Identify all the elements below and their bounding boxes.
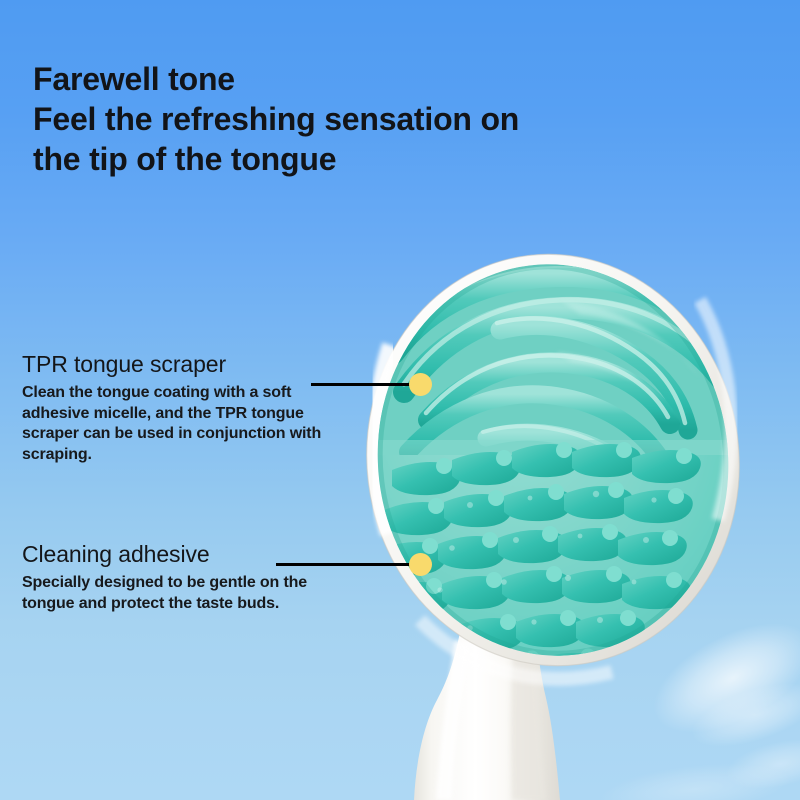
leader-dot-marker bbox=[409, 553, 432, 576]
callout-tpr-tongue-scraper: TPR tongue scraper Clean the tongue coat… bbox=[22, 350, 337, 465]
poster-headline: Farewell tone Feel the refreshing sensat… bbox=[33, 59, 633, 179]
callout-title: TPR tongue scraper bbox=[22, 350, 337, 378]
callout-cleaning-adhesive: Cleaning adhesive Specially designed to … bbox=[22, 540, 337, 614]
callout-body: Specially designed to be gentle on the t… bbox=[22, 573, 337, 614]
tongue-cleaning-pad bbox=[355, 244, 750, 690]
leader-line bbox=[311, 383, 423, 386]
callout-body: Clean the tongue coating with a soft adh… bbox=[22, 383, 337, 465]
leader-line bbox=[276, 563, 423, 566]
leader-dot-marker bbox=[409, 373, 432, 396]
product-feature-poster: Farewell tone Feel the refreshing sensat… bbox=[0, 0, 800, 800]
